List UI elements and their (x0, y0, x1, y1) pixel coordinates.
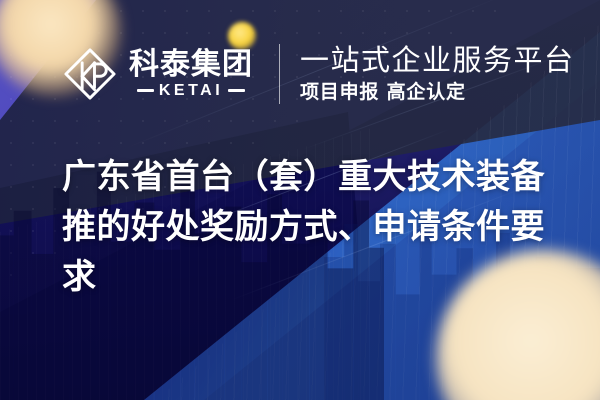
banner-header: 科泰集团 KETAI 一站式企业服务平台 项目申报 高企认定 (0, 36, 600, 112)
slogan-sub: 项目申报 高企认定 (300, 80, 575, 104)
brand-name-en: KETAI (159, 82, 223, 99)
banner-image: 科泰集团 KETAI 一站式企业服务平台 项目申报 高企认定 广东省首台（套）重… (0, 0, 600, 400)
banner-title-line-3: 求 (62, 252, 548, 302)
banner-title-line-1: 广东省首台（套）重大技术装备 (62, 152, 548, 202)
dash-right-icon (228, 89, 245, 92)
brand-lockup: 科泰集团 KETAI (62, 46, 253, 102)
dash-left-icon (137, 89, 154, 92)
banner-title: 广东省首台（套）重大技术装备 推的好处奖励方式、申请条件要 求 (62, 152, 548, 302)
ketai-diamond-monogram-icon (62, 46, 118, 102)
slogan-block: 一站式企业服务平台 项目申报 高企认定 (300, 44, 575, 104)
brand-name-en-row: KETAI (137, 82, 245, 99)
brand-text: 科泰集团 KETAI (129, 49, 253, 99)
banner-title-line-2: 推的好处奖励方式、申请条件要 (62, 202, 548, 252)
header-divider (279, 44, 280, 104)
brand-name-cn: 科泰集团 (129, 49, 253, 80)
slogan-main: 一站式企业服务平台 (300, 44, 575, 77)
